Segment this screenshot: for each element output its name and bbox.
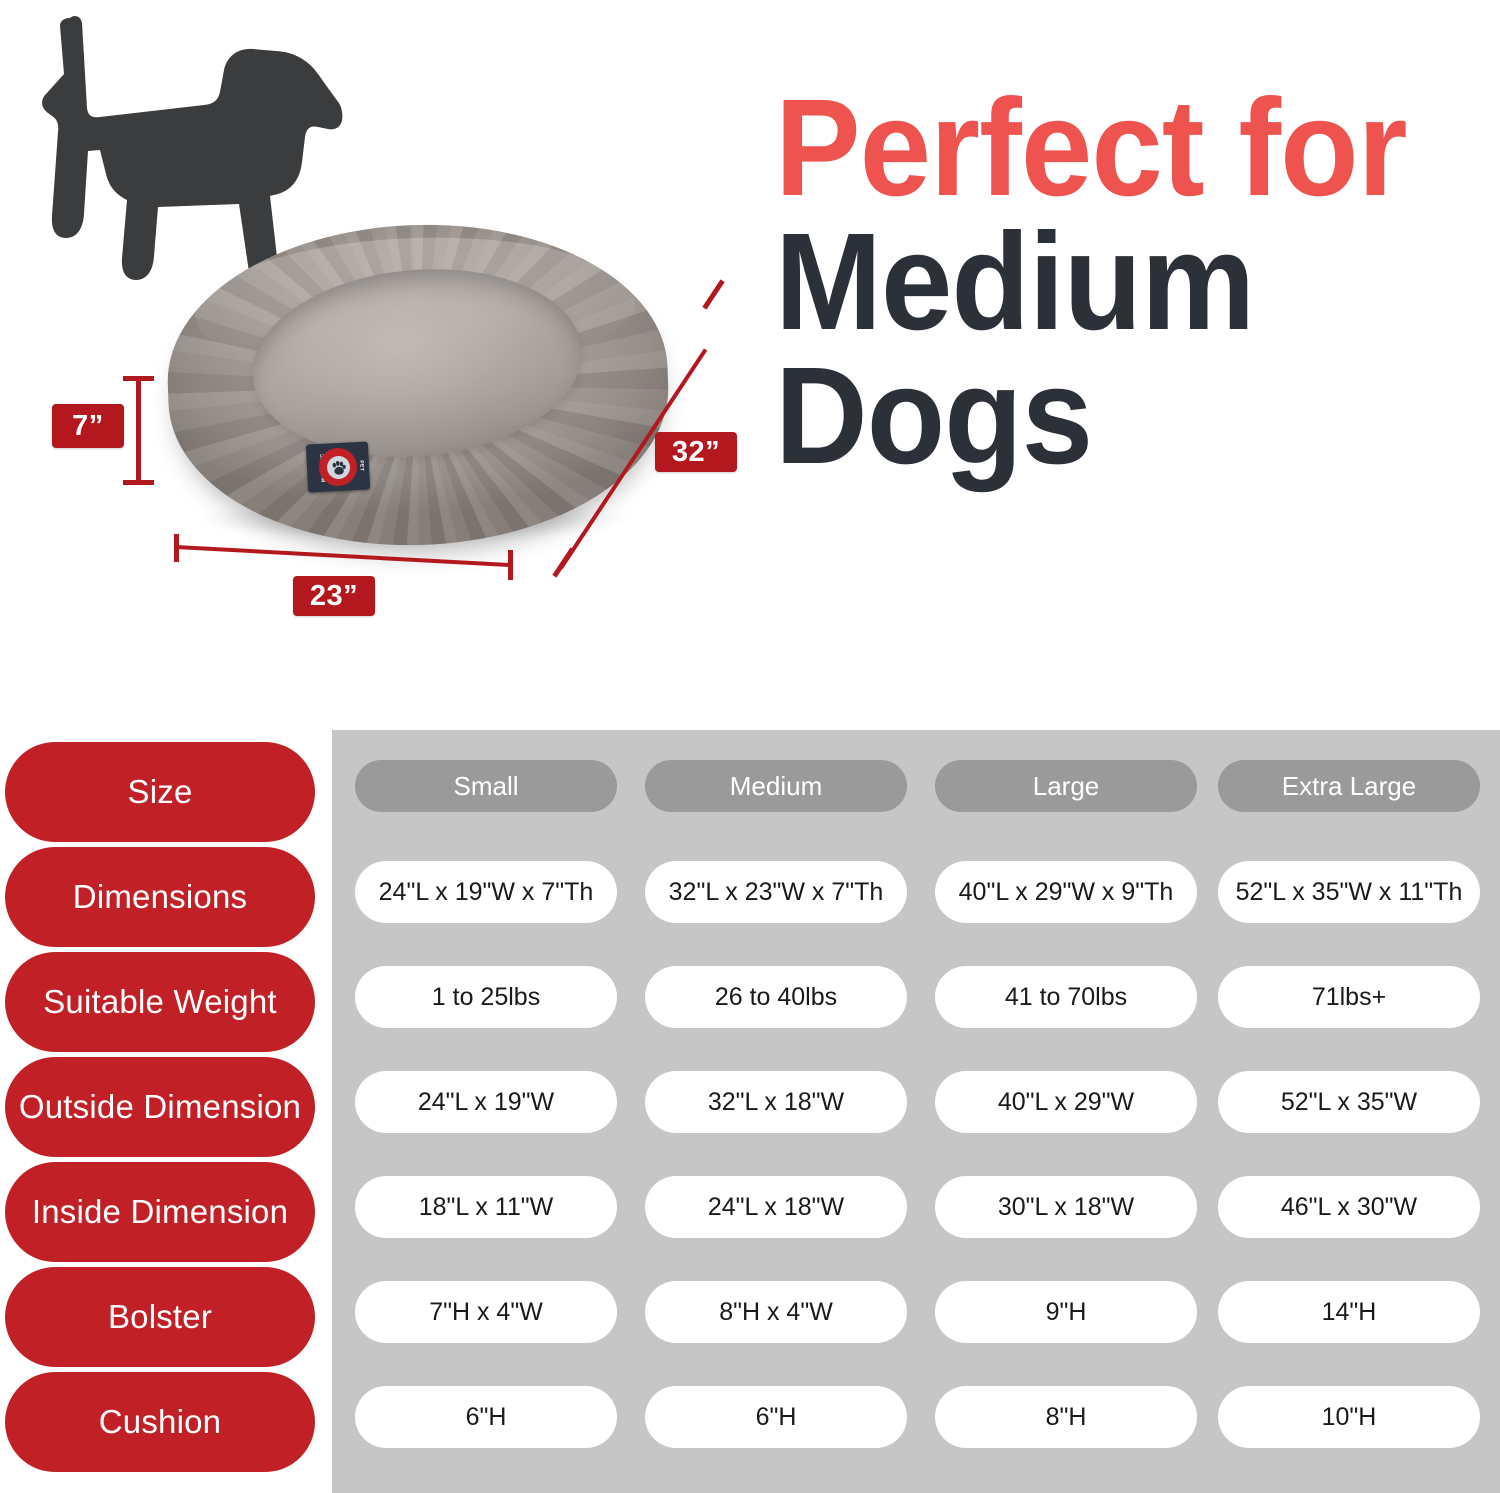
bed-bolster bbox=[163, 216, 674, 553]
paw-icon bbox=[329, 458, 347, 476]
column-header-0: Small bbox=[355, 760, 617, 812]
brand-tag-text-right: PET bbox=[358, 460, 365, 471]
product-infographic: MAJESTIC PET 7 bbox=[0, 0, 1500, 1493]
table-row: SizeSmallMediumLargeExtra Large bbox=[0, 742, 1500, 847]
table-row: Bolster7"H x 4"W8"H x 4"W9"H14"H bbox=[0, 1267, 1500, 1372]
row-label-suitable-weight: Suitable Weight bbox=[5, 952, 315, 1052]
table-cell: 26 to 40lbs bbox=[645, 966, 907, 1028]
majestic-pet-brand-tag: MAJESTIC PET bbox=[306, 441, 370, 492]
row-label-dimensions: Dimensions bbox=[5, 847, 315, 947]
row-label-size: Size bbox=[5, 742, 315, 842]
table-cell: 40"L x 29"W x 9"Th bbox=[935, 861, 1197, 923]
table-row: Dimensions24"L x 19"W x 7"Th32"L x 23"W … bbox=[0, 847, 1500, 952]
table-cell: 41 to 70lbs bbox=[935, 966, 1197, 1028]
table-row: Suitable Weight1 to 25lbs26 to 40lbs41 t… bbox=[0, 952, 1500, 1057]
row-label-bolster: Bolster bbox=[5, 1267, 315, 1367]
height-dimension-label: 7” bbox=[52, 404, 124, 448]
table-cell: 18"L x 11"W bbox=[355, 1176, 617, 1238]
table-cell: 40"L x 29"W bbox=[935, 1071, 1197, 1133]
table-row: Cushion6"H6"H8"H10"H bbox=[0, 1372, 1500, 1477]
row-label-cushion: Cushion bbox=[5, 1372, 315, 1472]
table-cell: 24"L x 19"W x 7"Th bbox=[355, 861, 617, 923]
row-label-inside-dimension: Inside Dimension bbox=[5, 1162, 315, 1262]
headline-block: Perfect for Medium Dogs bbox=[775, 82, 1485, 484]
headline-line-2: Medium bbox=[775, 216, 1435, 350]
table-cell: 9"H bbox=[935, 1281, 1197, 1343]
table-cell: 52"L x 35"W x 11"Th bbox=[1218, 861, 1480, 923]
table-cell: 8"H bbox=[935, 1386, 1197, 1448]
table-cell: 6"H bbox=[645, 1386, 907, 1448]
table-cell: 32"L x 23"W x 7"Th bbox=[645, 861, 907, 923]
table-cell: 8"H x 4"W bbox=[645, 1281, 907, 1343]
table-cell: 6"H bbox=[355, 1386, 617, 1448]
table-cell: 24"L x 19"W bbox=[355, 1071, 617, 1133]
column-header-2: Large bbox=[935, 760, 1197, 812]
table-cell: 46"L x 30"W bbox=[1218, 1176, 1480, 1238]
column-header-3: Extra Large bbox=[1218, 760, 1480, 812]
table-row: Outside Dimension24"L x 19"W32"L x 18"W4… bbox=[0, 1057, 1500, 1162]
table-cell: 1 to 25lbs bbox=[355, 966, 617, 1028]
table-cell: 52"L x 35"W bbox=[1218, 1071, 1480, 1133]
height-measure-line bbox=[136, 378, 141, 484]
specification-table: SizeSmallMediumLargeExtra LargeDimension… bbox=[0, 730, 1500, 1493]
hero-section: MAJESTIC PET 7 bbox=[0, 0, 1500, 730]
brand-core bbox=[326, 455, 350, 479]
length-dimension-label: 32” bbox=[655, 432, 737, 472]
width-measure-cap-right bbox=[508, 550, 513, 580]
dog-bed-product-image: MAJESTIC PET bbox=[160, 215, 680, 565]
table-cell: 14"H bbox=[1218, 1281, 1480, 1343]
headline-line-3: Dogs bbox=[775, 350, 1435, 484]
table-cell: 32"L x 18"W bbox=[645, 1071, 907, 1133]
column-header-1: Medium bbox=[645, 760, 907, 812]
table-cell: 71lbs+ bbox=[1218, 966, 1480, 1028]
table-cell: 7"H x 4"W bbox=[355, 1281, 617, 1343]
length-measure-cap-top bbox=[702, 279, 724, 309]
table-cell: 24"L x 18"W bbox=[645, 1176, 907, 1238]
width-dimension-label: 23” bbox=[293, 576, 375, 616]
table-cell: 30"L x 18"W bbox=[935, 1176, 1197, 1238]
headline-line-1: Perfect for bbox=[775, 82, 1435, 216]
height-measure-cap-bottom bbox=[123, 480, 154, 485]
table-row: Inside Dimension18"L x 11"W24"L x 18"W30… bbox=[0, 1162, 1500, 1267]
row-label-outside-dimension: Outside Dimension bbox=[5, 1057, 315, 1157]
table-cell: 10"H bbox=[1218, 1386, 1480, 1448]
